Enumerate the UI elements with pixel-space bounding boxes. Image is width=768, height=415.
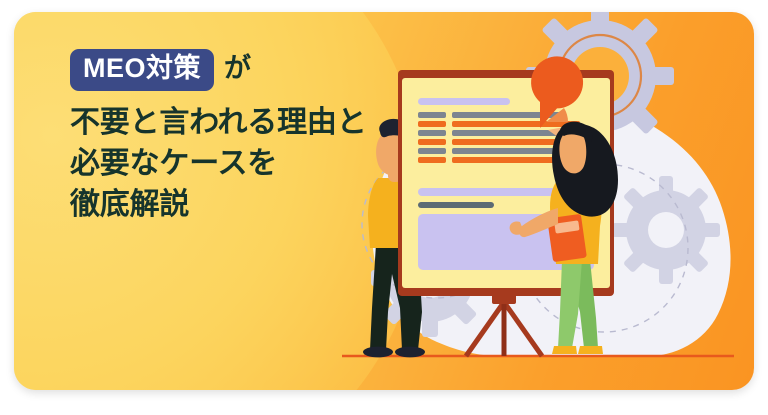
gear-medium-right xyxy=(612,176,720,284)
headline-line-2: 必要なケースを xyxy=(70,144,367,183)
banner-card: MEO対策 が 不要と言われる理由と 必要なケースを 徹底解説 xyxy=(14,12,754,390)
badge-suffix-text: が xyxy=(224,55,251,85)
headline-block: MEO対策 が 不要と言われる理由と 必要なケースを 徹底解説 xyxy=(70,48,367,224)
meo-badge: MEO対策 xyxy=(70,49,214,91)
headline-line-1: 不要と言われる理由と xyxy=(70,103,367,142)
illustration xyxy=(314,12,754,390)
headline-line-3: 徹底解説 xyxy=(70,185,367,224)
badge-row: MEO対策 が xyxy=(70,48,367,92)
